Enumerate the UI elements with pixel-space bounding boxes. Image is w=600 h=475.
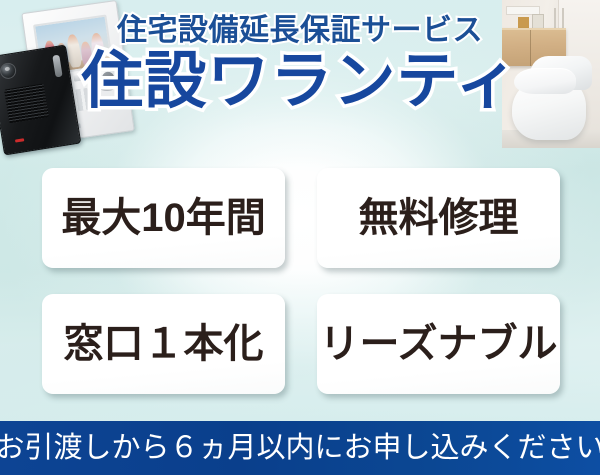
feature-box-reasonable: リーズナブル bbox=[317, 294, 560, 394]
feature-box-max-years: 最大10年間 bbox=[42, 168, 285, 268]
feature-box-grid: 最大10年間 無料修理 窓口１本化 リーズナブル bbox=[42, 168, 560, 394]
intercom-speaker-grille bbox=[4, 83, 49, 123]
intercom-button bbox=[73, 74, 86, 82]
feature-label: 無料修理 bbox=[359, 198, 519, 238]
camera-lens-icon bbox=[0, 62, 17, 80]
application-deadline-text: お引渡しから６ヵ月以内にお申し込みください bbox=[0, 434, 600, 463]
application-deadline-banner: お引渡しから６ヵ月以内にお申し込みください bbox=[0, 421, 600, 475]
feature-box-free-repair: 無料修理 bbox=[317, 168, 560, 268]
intercom-indicator bbox=[15, 138, 24, 142]
intercom-photo bbox=[0, 4, 136, 152]
intercom-side-button bbox=[52, 55, 62, 78]
promo-banner: 住宅設備延長保証サービス 住設ワランティ 最大10年間 無料修理 窓口１本化 リ… bbox=[0, 0, 600, 475]
feature-label: 窓口１本化 bbox=[64, 324, 264, 364]
feature-label: 最大10年間 bbox=[61, 198, 266, 238]
feature-box-single-contact: 窓口１本化 bbox=[42, 294, 285, 394]
toilet-photo bbox=[502, 0, 600, 148]
toilet-seat bbox=[514, 68, 576, 94]
feature-label: リーズナブル bbox=[320, 324, 558, 364]
